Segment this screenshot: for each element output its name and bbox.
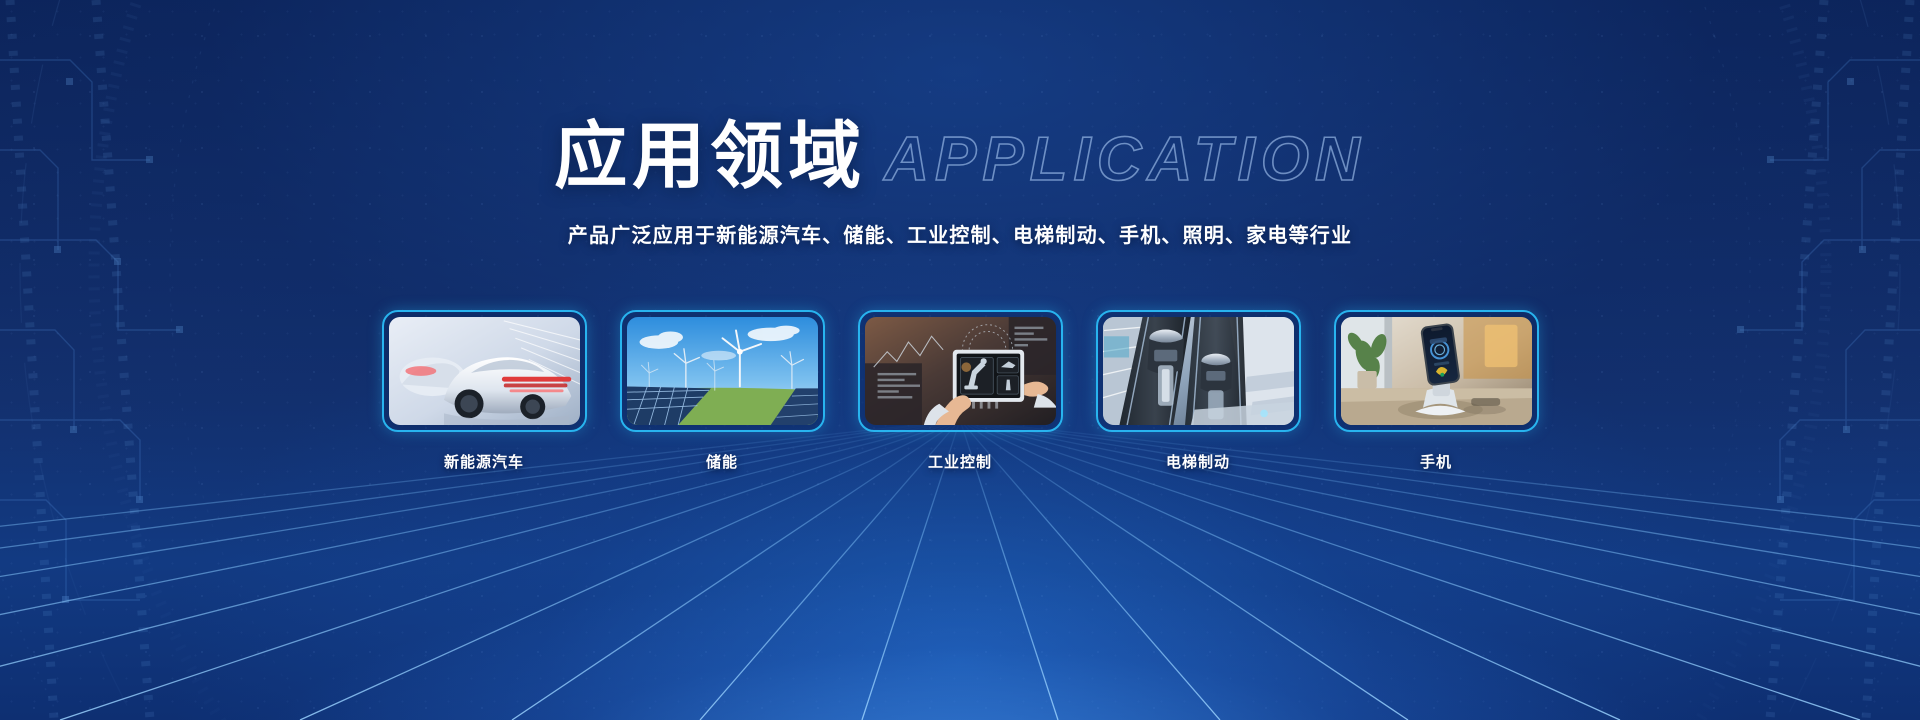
title-row: 应用领域APPLICATION: [554, 120, 1366, 193]
new-energy-vehicle-photo: [389, 317, 580, 425]
energy-storage-photo: [627, 317, 818, 425]
application-card-list: 新能源汽车: [0, 310, 1920, 472]
card-label: 电梯制动: [1096, 451, 1301, 472]
application-card[interactable]: 电梯制动: [1096, 310, 1301, 472]
card-frame[interactable]: [382, 310, 587, 432]
card-label: 储能: [620, 451, 825, 472]
card-label: 手机: [1334, 451, 1539, 472]
page-subtitle: 产品广泛应用于新能源汽车、储能、工业控制、电梯制动、手机、照明、家电等行业: [0, 219, 1920, 248]
application-card[interactable]: 工业控制: [858, 310, 1063, 472]
card-frame[interactable]: [1096, 310, 1301, 432]
application-card[interactable]: 手机: [1334, 310, 1539, 472]
page-title: 应用领域: [554, 120, 866, 193]
card-label: 新能源汽车: [382, 451, 587, 472]
card-frame[interactable]: [1334, 310, 1539, 432]
application-card[interactable]: 新能源汽车: [382, 310, 587, 472]
banner-header: 应用领域APPLICATION 产品广泛应用于新能源汽车、储能、工业控制、电梯制…: [0, 120, 1920, 248]
page-title-english: APPLICATION: [884, 129, 1366, 191]
card-label: 工业控制: [858, 451, 1063, 472]
application-banner: 应用领域APPLICATION 产品广泛应用于新能源汽车、储能、工业控制、电梯制…: [0, 0, 1920, 720]
elevator-braking-photo: [1103, 317, 1294, 425]
application-card[interactable]: 储能: [620, 310, 825, 472]
card-frame[interactable]: [858, 310, 1063, 432]
card-frame[interactable]: [620, 310, 825, 432]
mobile-phone-photo: [1341, 317, 1532, 425]
industrial-control-photo: [865, 317, 1056, 425]
